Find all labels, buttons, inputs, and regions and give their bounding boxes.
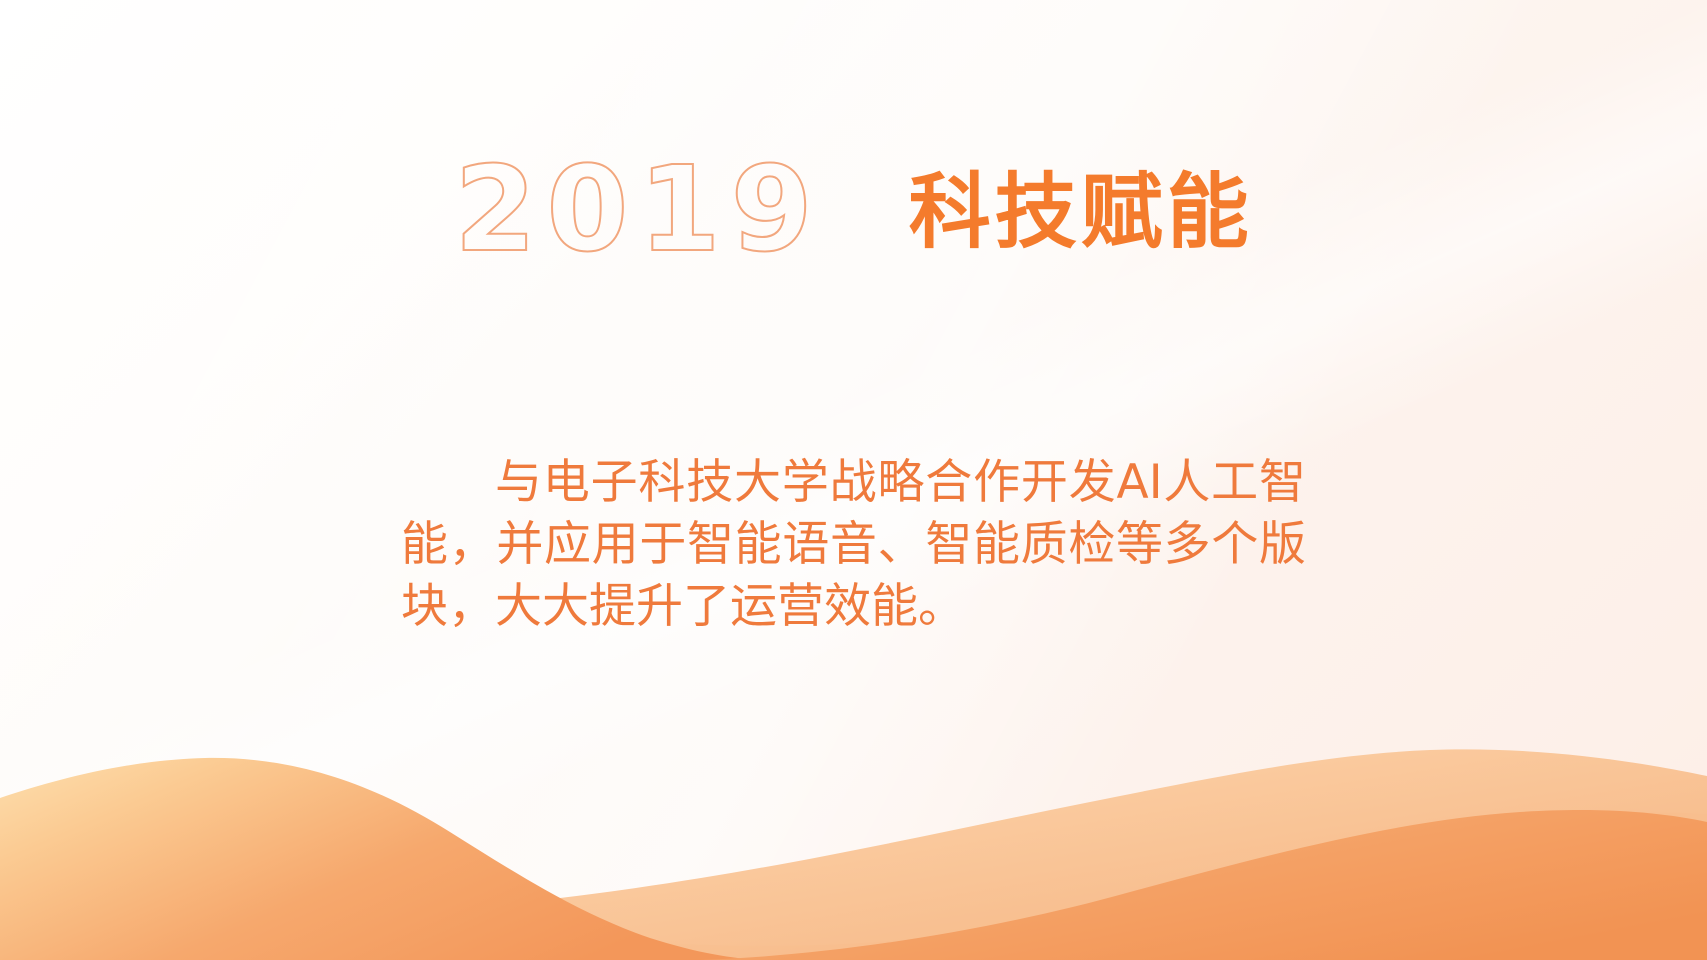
year-outline-text: 2019 (454, 150, 822, 268)
slide-canvas: 2019 科技赋能 与电子科技大学战略合作开发AI人工智能，并应用于智能语音、智… (0, 0, 1707, 960)
wave-mid-layer (0, 749, 1707, 960)
body-paragraph: 与电子科技大学战略合作开发AI人工智能，并应用于智能语音、智能质检等多个版块，大… (401, 452, 1306, 638)
body-paragraph-container: 与电子科技大学战略合作开发AI人工智能，并应用于智能语音、智能质检等多个版块，大… (0, 452, 1707, 638)
wave-front-layer (0, 758, 770, 960)
wave-front-right-layer (700, 810, 1707, 960)
bottom-wave-decoration (0, 630, 1707, 960)
slide-header: 2019 科技赋能 (0, 148, 1707, 278)
wave-back-layer (0, 812, 1707, 960)
headline-title: 科技赋能 (909, 172, 1253, 254)
